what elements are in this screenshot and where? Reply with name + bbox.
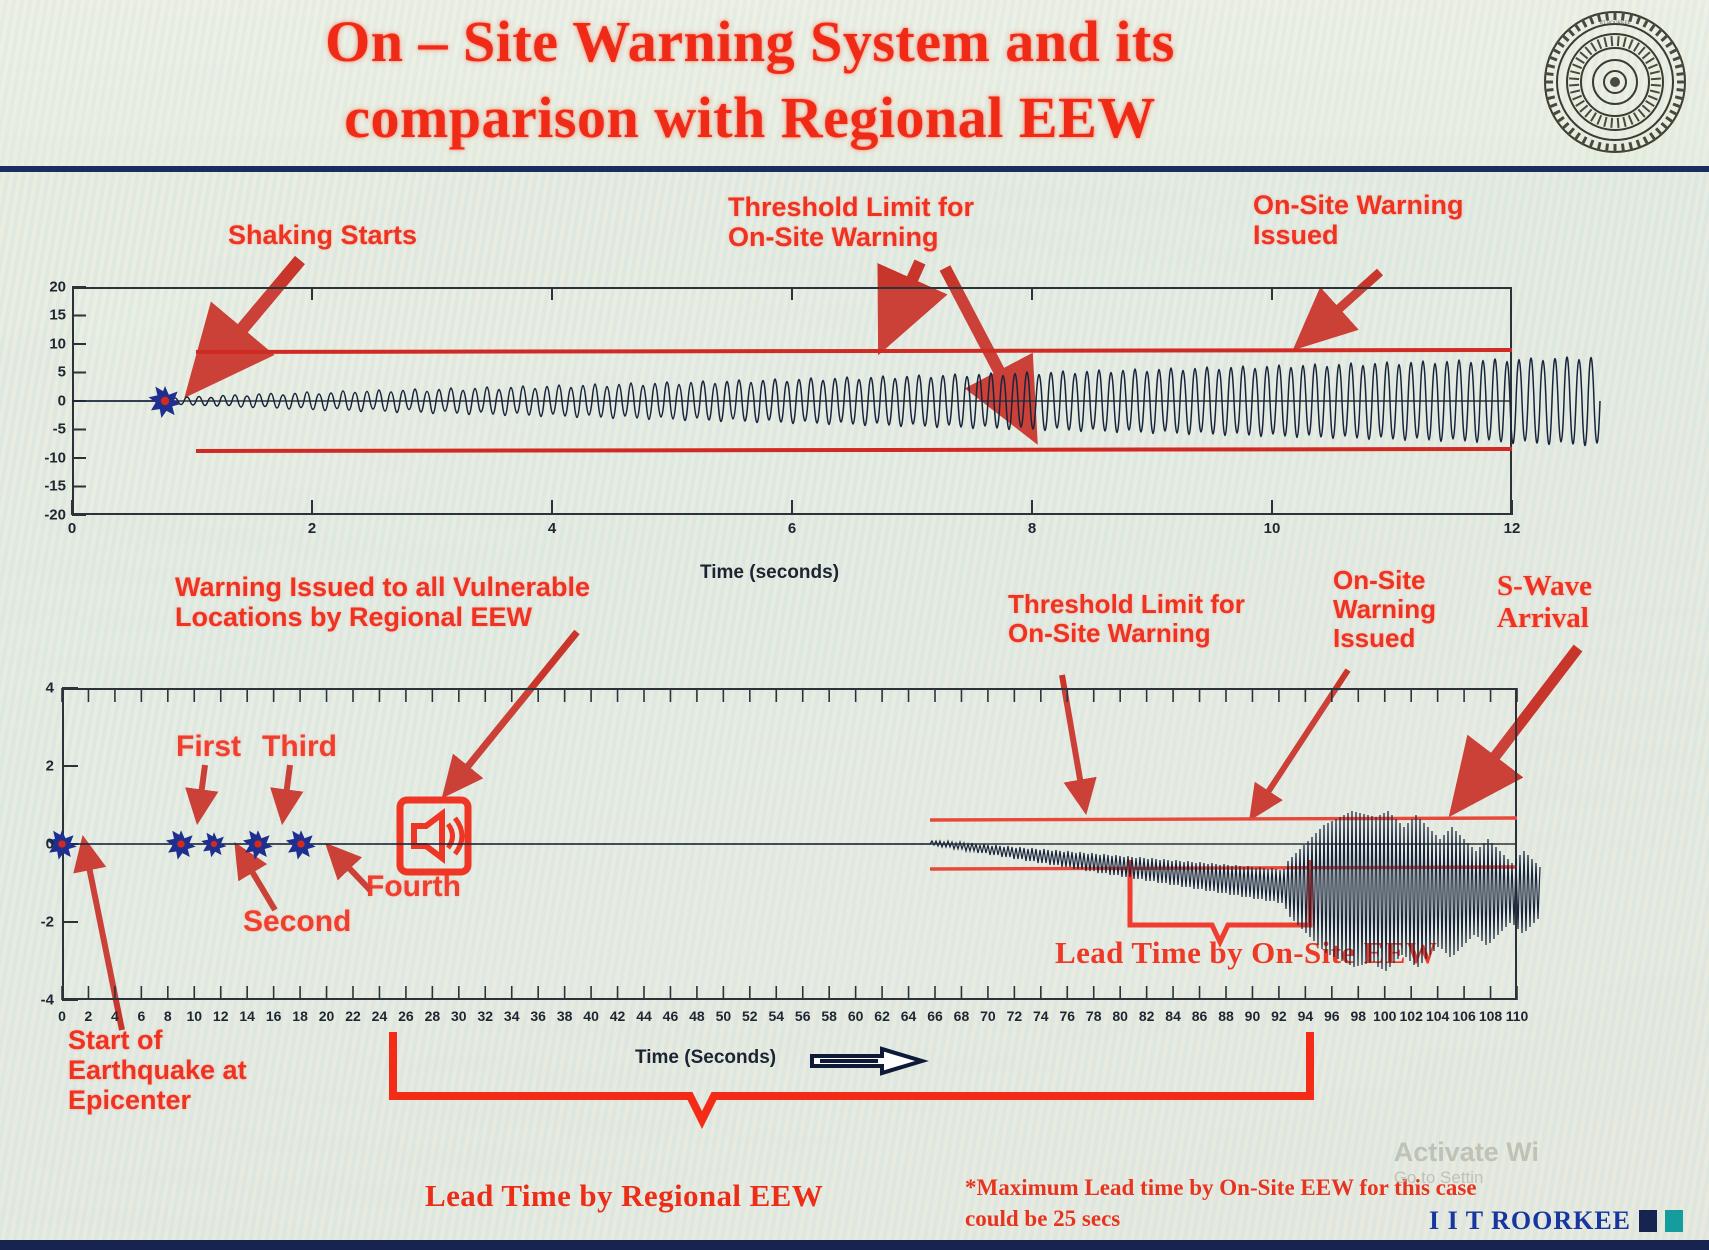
institute-footer: I I T ROORKEE	[1429, 1206, 1683, 1236]
footer-square-navy	[1639, 1210, 1657, 1232]
bottom-ytick-2: 2	[20, 758, 54, 775]
top-chart: Shaking Starts Threshold Limit for On-Si…	[0, 172, 1709, 592]
top-threshold-upper	[196, 350, 1512, 352]
svg-text:IIT ROORKEE: IIT ROORKEE	[1599, 21, 1630, 26]
top-plot-svg	[0, 172, 1709, 592]
top-ytick-m15: -15	[28, 478, 66, 495]
footer-band	[0, 1240, 1709, 1250]
top-xtick-8: 8	[1028, 520, 1036, 537]
top-ytick-10: 10	[28, 336, 66, 353]
top-ytick-m5: -5	[28, 421, 66, 438]
top-ytick-20: 20	[28, 279, 66, 296]
top-xtick-2: 2	[308, 520, 316, 537]
page-title-line1: On – Site Warning System and its	[150, 4, 1350, 80]
top-xtick-12: 12	[1504, 520, 1521, 537]
bottom-ytick-0: 0	[20, 836, 54, 853]
top-xtick-10: 10	[1264, 520, 1281, 537]
top-ytick-m10: -10	[28, 450, 66, 467]
bottom-star-markers	[47, 830, 316, 859]
bracket-lead-time-regional	[0, 1020, 1709, 1120]
page-title-line2: comparison with Regional EEW	[150, 80, 1350, 156]
slide-header: On – Site Warning System and its compari…	[0, 0, 1709, 172]
station-third-star	[243, 830, 273, 859]
page-title: On – Site Warning System and its compari…	[150, 4, 1350, 156]
iit-roorkee-emblem-icon: IIT ROORKEE	[1541, 8, 1689, 156]
bottom-ytick-4: 4	[20, 680, 54, 697]
top-ytick-15: 15	[28, 307, 66, 324]
bottom-chart: Warning Issued to all Vulnerable Locatio…	[0, 560, 1709, 1120]
watermark-line2: Go to Settin	[1394, 1168, 1539, 1188]
anno-lead-time-regional: Lead Time by Regional EEW	[425, 1178, 823, 1214]
station-fourth-star	[286, 830, 316, 859]
top-ytick-m20: -20	[28, 507, 66, 524]
bottom-ytick-m4: -4	[20, 992, 54, 1009]
footer-square-teal	[1665, 1210, 1683, 1232]
bottom-threshold-upper	[930, 818, 1517, 820]
top-xtick-0: 0	[68, 520, 76, 537]
windows-activate-watermark: Activate Wi Go to Settin	[1394, 1137, 1539, 1188]
top-shaking-start-star-marker	[149, 386, 181, 418]
top-ytick-0: 0	[28, 393, 66, 410]
station-first-star	[166, 830, 196, 859]
bottom-seismogram-trace	[62, 811, 1540, 971]
watermark-line1: Activate Wi	[1394, 1137, 1539, 1168]
top-ytick-5: 5	[28, 364, 66, 381]
top-threshold-lower	[196, 449, 1512, 451]
institute-name: I I T ROORKEE	[1429, 1206, 1631, 1236]
top-xtick-6: 6	[788, 520, 796, 537]
bottom-ytick-m2: -2	[20, 914, 54, 931]
top-xtick-4: 4	[548, 520, 556, 537]
slide-canvas: On – Site Warning System and its compari…	[0, 0, 1709, 1250]
